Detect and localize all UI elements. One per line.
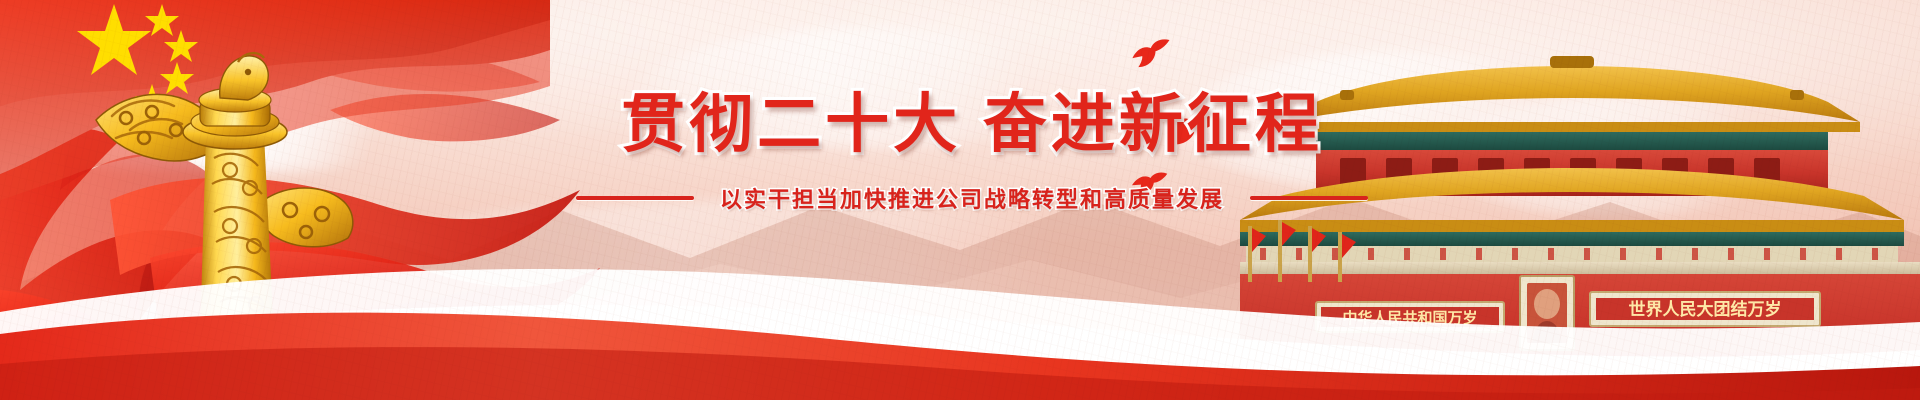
- flying-dove: [1129, 169, 1171, 202]
- party-congress-banner: 中华人民共和国万岁 世界人民大团结万岁: [0, 0, 1920, 400]
- gate-beam: [1316, 132, 1828, 150]
- flying-dove: [1163, 109, 1221, 152]
- gate-upper-roof: [1284, 66, 1860, 122]
- cloud: [640, 28, 1100, 148]
- huabiao-cloud-board: [261, 188, 353, 247]
- bottom-red-sweep: [0, 280, 1920, 400]
- hou-beast: [220, 53, 269, 100]
